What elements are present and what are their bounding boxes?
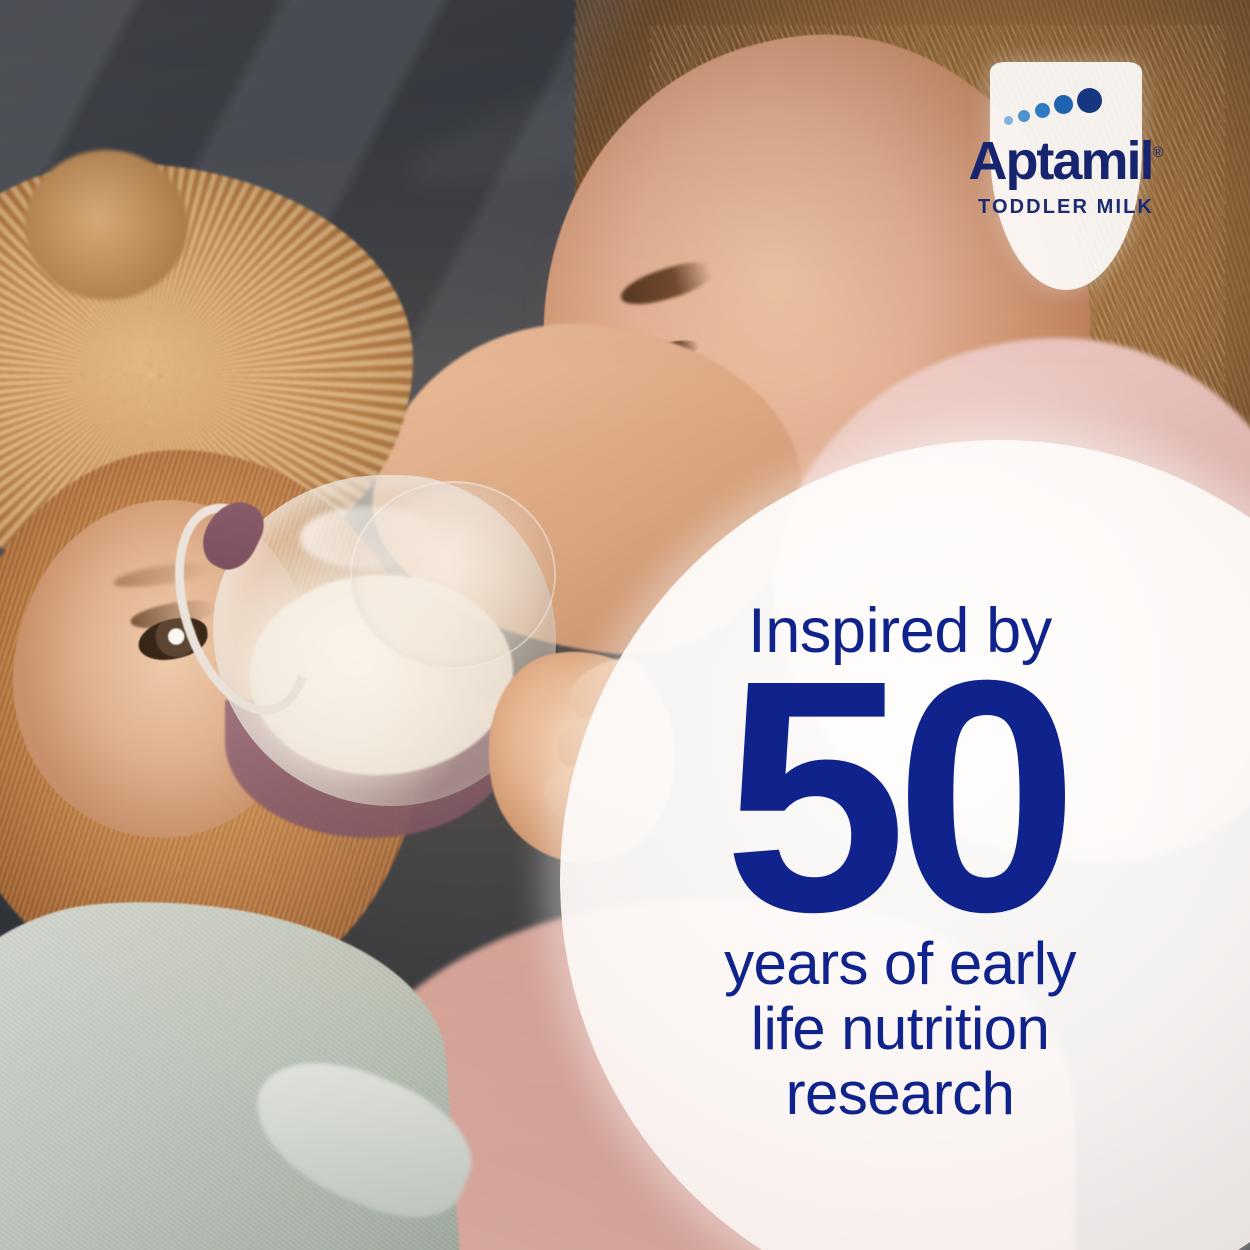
headline-number-50: 50 — [620, 667, 1180, 924]
aptamil-logo: Aptamil® TODDLER MILK — [990, 62, 1142, 290]
headline-block: Inspired by 50 years of early life nutri… — [620, 600, 1180, 1127]
headline-line-1: years of early — [620, 932, 1180, 997]
dot-4-icon — [1054, 95, 1073, 114]
advertisement-canvas: Inspired by 50 years of early life nutri… — [0, 0, 1250, 1250]
brand-name-text: Aptamil — [968, 131, 1152, 191]
headline-line-3: research — [620, 1062, 1180, 1127]
headline-line-2: life nutrition — [620, 997, 1180, 1062]
sippy-cup-highlight — [300, 506, 438, 569]
teddy-bear-ear — [25, 150, 188, 300]
brand-wordmark: Aptamil® — [926, 130, 1206, 192]
dot-1-smallest-icon — [1004, 116, 1013, 125]
blue-dot-arc-icon — [1004, 88, 1128, 128]
product-line-label: TODDLER MILK — [938, 196, 1194, 219]
dot-5-largest-icon — [1077, 88, 1102, 113]
dot-2-icon — [1018, 110, 1030, 122]
registered-trademark-icon: ® — [1152, 144, 1163, 161]
dot-3-icon — [1035, 103, 1050, 118]
